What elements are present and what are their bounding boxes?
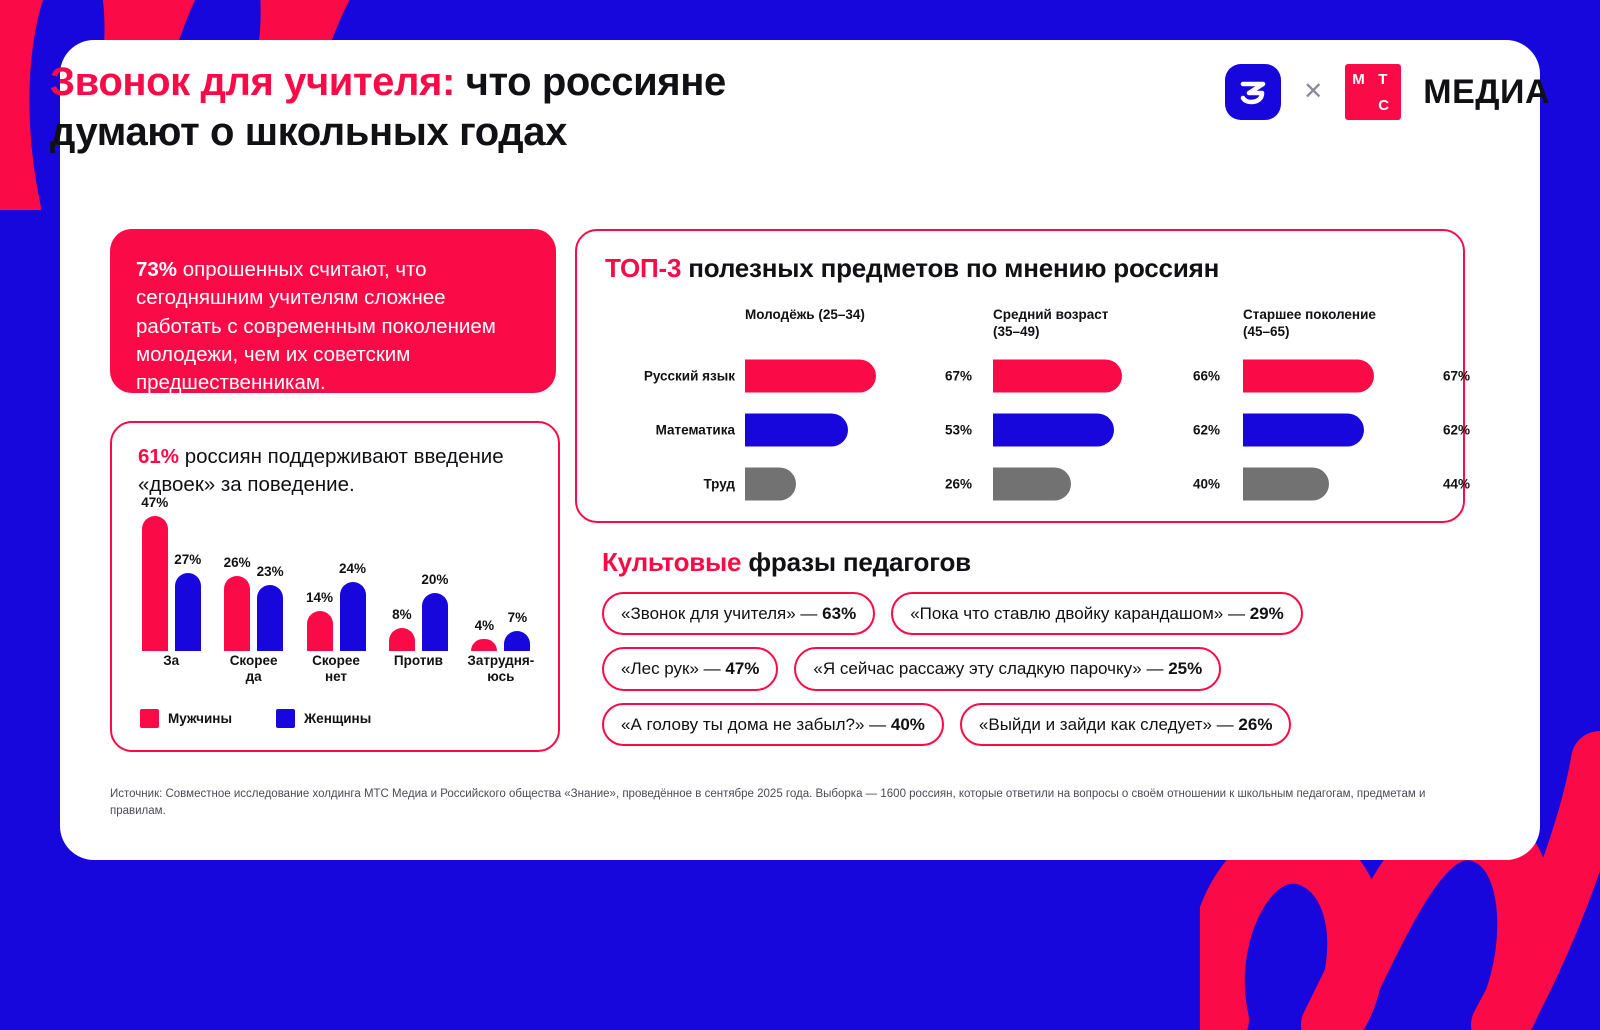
top3-bar — [745, 360, 876, 393]
page-title: Звонок для учителя: что россияне думают … — [50, 58, 950, 157]
phrases-title-rest: фразы педагогов — [741, 547, 971, 577]
stat-card-text: 73% опрошенных считают, что сегодняшним … — [136, 256, 534, 397]
top3-bar-wrap — [1243, 468, 1438, 501]
top3-bar — [1243, 414, 1364, 447]
phrase-chip-value: 47% — [725, 659, 759, 678]
phrase-chip-text: «Звонок для учителя» — — [621, 604, 822, 623]
legend-item-men: Мужчины — [140, 709, 232, 728]
top3-bar-value: 62% — [1443, 423, 1470, 438]
behaviour-category-label: За — [130, 653, 212, 687]
behaviour-bar: 26% — [224, 576, 250, 651]
behaviour-bar-value: 7% — [508, 610, 528, 625]
phrase-chip-value: 25% — [1168, 659, 1202, 678]
phrases-title: Культовые фразы педагогов — [602, 547, 971, 578]
top3-bar-wrap — [745, 414, 940, 447]
behaviour-bar: 7% — [504, 631, 530, 651]
logo-group: ✕ М Т С МЕДИА — [1225, 64, 1550, 120]
top3-bar-value: 26% — [945, 477, 972, 492]
phrase-chip[interactable]: «А голову ты дома не забыл?» — 40% — [602, 703, 944, 746]
page-title-accent: Звонок для учителя: — [50, 60, 455, 104]
behaviour-bar-value: 20% — [421, 572, 448, 587]
legend-swatch — [140, 709, 159, 728]
top3-title-accent: ТОП-3 — [605, 253, 681, 283]
phrase-chip-value: 40% — [891, 715, 925, 734]
behaviour-bar-group: 8%20% — [377, 507, 459, 651]
top3-row-label: Труд — [605, 477, 735, 492]
behaviour-bar-value: 47% — [141, 495, 168, 510]
behaviour-category-labels: ЗаСкореедаСкореенетПротивЗатрудня-юсь — [130, 653, 542, 687]
phrase-chip-value: 26% — [1238, 715, 1272, 734]
mts-letter-t: Т — [1378, 72, 1387, 87]
source-note: Источник: Совместное исследование холдин… — [110, 786, 1450, 821]
behaviour-bar-group: 4%7% — [460, 507, 542, 651]
mts-letter-s: С — [1378, 98, 1389, 113]
page-title-line2: думают о школьных годах — [50, 110, 567, 154]
page-title-rest: что россияне — [455, 60, 726, 104]
top3-row: Труд26%40%44% — [605, 457, 1443, 511]
top3-bar — [745, 414, 848, 447]
top3-row: Русский язык67%66%67% — [605, 349, 1443, 403]
phrase-chip[interactable]: «Звонок для учителя» — 63% — [602, 592, 875, 635]
phrase-chip-text: «А голову ты дома не забыл?» — — [621, 715, 891, 734]
phrase-chip-list: «Звонок для учителя» — 63%«Пока что став… — [602, 592, 1462, 758]
top3-bar — [993, 360, 1122, 393]
phrase-chip-row: «Звонок для учителя» — 63%«Пока что став… — [602, 592, 1462, 635]
top3-row: Математика53%62%62% — [605, 403, 1443, 457]
phrase-chip-value: 29% — [1250, 604, 1284, 623]
header: Звонок для учителя: что россияне думают … — [50, 58, 1552, 158]
behaviour-category-label: Скореенет — [295, 653, 377, 687]
phrase-chip-text: «Пока что ставлю двойку карандашом» — — [910, 604, 1250, 623]
legend-label: Женщины — [304, 711, 371, 726]
phrase-chip-text: «Выйди и зайди как следует» — — [979, 715, 1238, 734]
behaviour-bar-group: 26%23% — [212, 507, 294, 651]
phrase-chip-text: «Я сейчас рассажу эту сладкую парочку» — — [813, 659, 1168, 678]
behaviour-bar: 8% — [389, 628, 415, 651]
behaviour-bar-group: 47%27% — [130, 507, 212, 651]
top3-bar-wrap — [993, 414, 1188, 447]
behaviour-bar-value: 14% — [306, 590, 333, 605]
phrase-chip[interactable]: «Я сейчас рассажу эту сладкую парочку» —… — [794, 647, 1221, 690]
behaviour-bar: 4% — [471, 639, 497, 651]
behaviour-chart-card: 61% россиян поддерживают введение «двоек… — [110, 421, 560, 752]
behaviour-bar-chart: 47%27%26%23%14%24%8%20%4%7% ЗаСкореедаСк… — [130, 509, 542, 687]
behaviour-bar: 20% — [422, 593, 448, 651]
top3-column-header: Старшее поколение(45–65) — [1243, 307, 1376, 341]
top3-bar-wrap — [1243, 414, 1438, 447]
top3-column-headers: Молодёжь (25–34)Средний возраст(35–49)Ст… — [605, 307, 1443, 345]
behaviour-highlight: 61% — [138, 445, 179, 468]
top3-rows: Русский язык67%66%67%Математика53%62%62%… — [605, 349, 1443, 511]
behaviour-chart-title: 61% россиян поддерживают введение «двоек… — [138, 443, 540, 499]
top3-bar — [1243, 360, 1374, 393]
top3-column-header: Молодёжь (25–34) — [745, 307, 865, 324]
behaviour-category-label: Против — [377, 653, 459, 687]
phrase-chip-row: «Лес рук» — 47%«Я сейчас рассажу эту сла… — [602, 647, 1462, 690]
znanie-logo-icon — [1225, 64, 1281, 120]
top3-bar-value: 53% — [945, 423, 972, 438]
behaviour-category-label: Скорееда — [212, 653, 294, 687]
behaviour-category-label: Затрудня-юсь — [460, 653, 542, 687]
top3-bar — [1243, 468, 1329, 501]
behaviour-bar-groups: 47%27%26%23%14%24%8%20%4%7% — [130, 507, 542, 651]
behaviour-title-rest: россиян поддерживают введение «двоек» за… — [138, 445, 504, 496]
mts-logo-icon: М Т С — [1345, 64, 1401, 120]
mts-media-label: МЕДИА — [1423, 73, 1550, 112]
top3-bar-value: 67% — [945, 369, 972, 384]
top3-row-label: Математика — [605, 423, 735, 438]
cross-icon: ✕ — [1303, 80, 1323, 104]
top3-columns: Молодёжь (25–34)Средний возраст(35–49)Ст… — [605, 307, 1443, 505]
behaviour-chart-legend: МужчиныЖенщины — [140, 709, 371, 728]
legend-label: Мужчины — [168, 711, 232, 726]
stat-card-73: 73% опрошенных считают, что сегодняшним … — [110, 229, 556, 393]
top3-subjects-card: ТОП-3 полезных предметов по мнению росси… — [575, 229, 1465, 523]
behaviour-bar: 47% — [142, 516, 168, 651]
behaviour-bar: 24% — [340, 582, 366, 651]
legend-item-women: Женщины — [276, 709, 371, 728]
phrase-chip[interactable]: «Пока что ставлю двойку карандашом» — 29… — [891, 592, 1303, 635]
behaviour-bar-value: 24% — [339, 561, 366, 576]
phrase-chip[interactable]: «Лес рук» — 47% — [602, 647, 778, 690]
behaviour-bar-value: 26% — [224, 555, 251, 570]
top3-bar-wrap — [745, 360, 940, 393]
legend-swatch — [276, 709, 295, 728]
top3-bar — [745, 468, 796, 501]
top3-bar-wrap — [993, 360, 1188, 393]
behaviour-bar-value: 4% — [475, 618, 495, 633]
phrases-title-accent: Культовые — [602, 547, 741, 577]
behaviour-bar-value: 27% — [174, 552, 201, 567]
phrase-chip[interactable]: «Выйди и зайди как следует» — 26% — [960, 703, 1292, 746]
top3-bar-value: 62% — [1193, 423, 1220, 438]
behaviour-bar: 23% — [257, 585, 283, 651]
behaviour-bar-value: 23% — [257, 564, 284, 579]
top3-bar-wrap — [993, 468, 1188, 501]
mts-letter-m: М — [1352, 72, 1365, 87]
top3-bar-wrap — [1243, 360, 1438, 393]
behaviour-bar: 27% — [175, 573, 201, 651]
phrase-chip-row: «А голову ты дома не забыл?» — 40%«Выйди… — [602, 703, 1462, 746]
behaviour-bar: 14% — [307, 611, 333, 651]
top3-bar-value: 67% — [1443, 369, 1470, 384]
top3-bar — [993, 414, 1114, 447]
top3-bar-value: 66% — [1193, 369, 1220, 384]
behaviour-bar-value: 8% — [392, 607, 412, 622]
phrase-chip-text: «Лес рук» — — [621, 659, 725, 678]
top3-row-label: Русский язык — [605, 369, 735, 384]
top3-title: ТОП-3 полезных предметов по мнению росси… — [605, 253, 1219, 284]
stat-card-highlight: 73% — [136, 258, 177, 281]
behaviour-bar-group: 14%24% — [295, 507, 377, 651]
top3-bar-value: 40% — [1193, 477, 1220, 492]
top3-bar-value: 44% — [1443, 477, 1470, 492]
phrase-chip-value: 63% — [822, 604, 856, 623]
top3-column-header: Средний возраст(35–49) — [993, 307, 1108, 341]
top3-bar-wrap — [745, 468, 940, 501]
top3-bar — [993, 468, 1071, 501]
top3-title-rest: полезных предметов по мнению россиян — [681, 253, 1219, 283]
stat-card-body: опрошенных считают, что сегодняшним учит… — [136, 258, 496, 394]
